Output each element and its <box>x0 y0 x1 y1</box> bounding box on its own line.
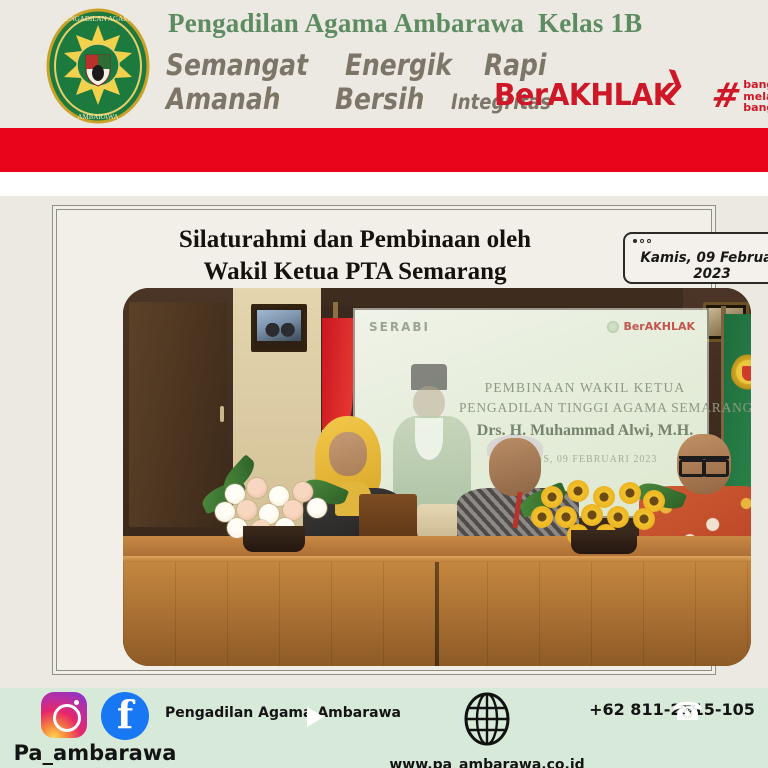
poster-footer: f Pa_ambarawa Pengadilan Agama Ambarawa … <box>0 688 768 768</box>
motto-row-2: Amanah Bersih Integritas <box>166 82 486 116</box>
bangga-melayani-bangsa-logo: # bangga melayani bangsa <box>712 79 768 114</box>
window-dots-icon <box>633 239 651 243</box>
institution-class: Kelas 1B <box>538 8 642 38</box>
white-flower-bouquet <box>207 468 343 550</box>
footer-social-handle: Pa_ambarawa <box>0 741 190 765</box>
screen-berakhlak-text: BerAKHLAK <box>623 320 695 333</box>
footer-item-phone[interactable]: ☎ +62 811-2515-105 <box>576 692 768 719</box>
screen-text-line-2: PENGADILAN TINGGI AGAMA SEMARANG <box>459 400 697 416</box>
president-portrait-frame <box>251 304 307 352</box>
table-panel-seam <box>435 562 439 666</box>
poster-header: PENGADILAN AGAMA AMBARAWA Pengadilan Aga… <box>0 0 768 128</box>
photo-card-frame: Silaturahmi dan Pembinaan oleh Wakil Ket… <box>52 205 716 675</box>
red-divider-band <box>0 128 768 172</box>
motto-rapi: Rapi <box>484 48 546 82</box>
event-title-line-2: Wakil Ketua PTA Semarang <box>105 256 605 288</box>
institution-name: Pengadilan Agama Ambarawa <box>168 8 524 38</box>
tagline-line-1: bangga <box>743 79 768 91</box>
motto-block: Semangat Energik Rapi Amanah Bersih Inte… <box>166 48 486 116</box>
tagline-line-3: bangsa <box>743 102 768 114</box>
poster-page: PENGADILAN AGAMA AMBARAWA Pengadilan Aga… <box>0 0 768 768</box>
motto-energik: Energik <box>345 48 452 82</box>
door-handle <box>220 406 224 422</box>
hashtag-icon: # <box>709 83 743 110</box>
berakhlak-logo: BerAKHLAK ❯ # bangga melayani bangsa <box>494 78 768 114</box>
footer-item-youtube[interactable]: Pengadilan Agama Ambarawa <box>160 696 406 721</box>
svg-text:AMBARAWA: AMBARAWA <box>77 113 118 121</box>
event-photograph: SERABI BerAKHLAK PEMBINAAN WAKIL KETUA P… <box>123 288 751 666</box>
motto-amanah: Amanah <box>166 82 280 116</box>
berakhlak-tick-icon: ❯ <box>660 64 689 103</box>
footer-item-website[interactable]: www.pa_ambarawa.co.id <box>372 692 602 768</box>
bangga-tagline: bangga melayani bangsa <box>743 79 768 114</box>
poster-body: Silaturahmi dan Pembinaan oleh Wakil Ket… <box>0 196 768 688</box>
screen-logo-dot-icon <box>607 321 619 333</box>
screen-berakhlak-logo: BerAKHLAK <box>607 320 695 333</box>
event-title-line-1: Silaturahmi dan Pembinaan oleh <box>105 224 605 256</box>
motto-bersih: Bersih <box>335 82 424 116</box>
wooden-podium <box>359 494 417 542</box>
event-title-block: Silaturahmi dan Pembinaan oleh Wakil Ket… <box>105 224 605 288</box>
globe-icon[interactable] <box>463 733 511 750</box>
svg-text:PENGADILAN AGAMA: PENGADILAN AGAMA <box>62 15 135 23</box>
screen-brand-serabi: SERABI <box>369 320 430 334</box>
motto-semangat: Semangat <box>166 48 308 82</box>
berakhlak-text: BerAKHLAK <box>494 78 674 113</box>
court-seal-logo: PENGADILAN AGAMA AMBARAWA <box>42 7 154 125</box>
instagram-icon[interactable] <box>41 692 87 738</box>
white-divider-band <box>0 172 768 196</box>
berakhlak-wordmark: BerAKHLAK ❯ <box>494 78 674 113</box>
date-badge: Kamis, 09 Februari 2023 <box>623 232 768 284</box>
footer-youtube-channel: Pengadilan Agama Ambarawa <box>160 705 406 721</box>
event-date: Kamis, 09 Februari 2023 <box>631 250 768 282</box>
footer-website-url: www.pa_ambarawa.co.id <box>372 757 602 768</box>
header-institution-title: Pengadilan Agama AmbarawaKelas 1B <box>168 8 642 39</box>
facebook-icon[interactable]: f <box>101 692 149 740</box>
motto-row-1: Semangat Energik Rapi <box>166 48 486 82</box>
screen-text-line-1: PEMBINAAN WAKIL KETUA <box>473 380 697 396</box>
sunflower-bouquet <box>527 474 677 552</box>
